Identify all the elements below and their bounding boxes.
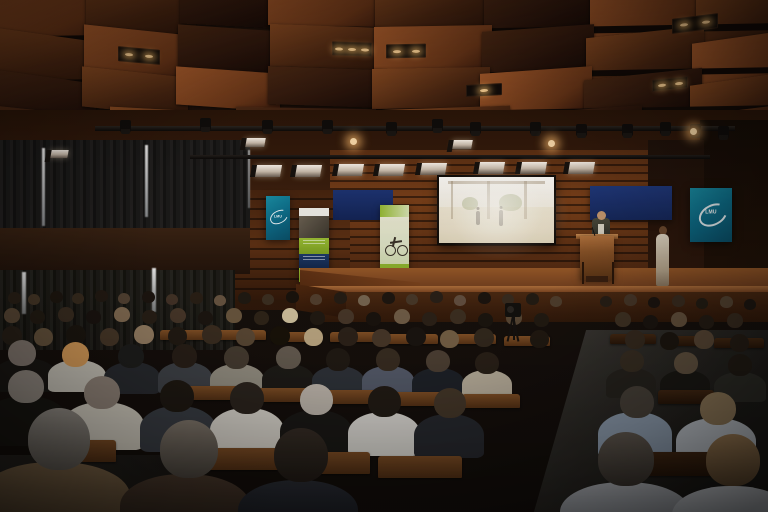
audience-head xyxy=(8,370,44,403)
audience-head xyxy=(30,310,45,324)
audience-head xyxy=(160,420,218,478)
audience-head xyxy=(720,296,733,308)
audience-head xyxy=(118,293,130,304)
recessed-ceiling-light xyxy=(466,83,502,97)
audience-head xyxy=(366,312,381,326)
lighting-truss-lower xyxy=(190,155,710,159)
audience-head xyxy=(478,313,493,327)
audience-head xyxy=(304,328,323,346)
audience-head xyxy=(202,325,222,344)
audience-head xyxy=(34,328,53,346)
standing-attendee-body xyxy=(656,234,669,286)
audience-head xyxy=(168,327,187,345)
audience-head xyxy=(600,296,612,307)
audience-head xyxy=(372,329,391,347)
audience-head xyxy=(238,292,251,304)
audience-head xyxy=(50,291,63,303)
audience-head xyxy=(454,295,466,306)
audience-head xyxy=(254,311,269,325)
teal-branded-banner-left: LMU xyxy=(266,196,290,240)
stage-spotlight xyxy=(660,122,671,135)
stage-spotlight xyxy=(622,124,633,137)
audience-head xyxy=(276,346,301,369)
audience-head xyxy=(118,344,144,368)
audience-head xyxy=(358,295,370,306)
audience-shoulders xyxy=(672,486,768,512)
audience-head xyxy=(426,350,450,372)
audience-head xyxy=(727,313,743,328)
audience-head xyxy=(172,344,197,368)
wooden-auditorium-seat xyxy=(462,394,520,408)
audience-head xyxy=(422,312,437,326)
audience-head xyxy=(394,309,410,324)
audience-head xyxy=(744,299,756,310)
audience-head xyxy=(28,408,90,470)
audience-head xyxy=(142,291,155,303)
audience-head xyxy=(114,307,130,322)
audience-head xyxy=(170,308,186,323)
recessed-ceiling-light xyxy=(386,44,426,59)
audience-head xyxy=(226,308,242,323)
spotlight-beam xyxy=(350,138,357,145)
acoustic-reflector-panel xyxy=(419,163,447,175)
speaker-podium xyxy=(580,236,614,280)
audience-head xyxy=(730,334,749,352)
audience-head xyxy=(338,327,358,346)
stage-spotlight xyxy=(322,120,333,133)
audience-shoulders xyxy=(238,480,358,512)
acoustic-reflector-panel xyxy=(519,162,547,174)
seated-audience xyxy=(0,282,768,512)
recessed-ceiling-light xyxy=(332,41,372,56)
bicycle-wheel xyxy=(397,245,408,256)
audience-head xyxy=(674,352,698,374)
lower-wall-band xyxy=(0,228,250,274)
audience-head xyxy=(198,311,213,325)
audience-head xyxy=(530,330,549,348)
audience-head xyxy=(434,388,466,418)
podium-leg xyxy=(582,262,584,284)
stage-spotlight xyxy=(576,124,587,137)
audience-head xyxy=(376,348,400,371)
audience-head xyxy=(696,298,708,309)
audience-head xyxy=(274,428,328,482)
audience-head xyxy=(282,308,298,323)
audience-head xyxy=(660,332,679,350)
audience-head xyxy=(270,326,290,345)
audience-head xyxy=(671,312,687,327)
audience-head xyxy=(450,309,466,324)
audience-head xyxy=(190,292,203,304)
audience-head xyxy=(406,327,426,346)
audience-head xyxy=(368,386,401,417)
blackout-curtain-upper xyxy=(0,140,250,232)
stage-spotlight xyxy=(718,126,729,139)
audience-head xyxy=(310,311,325,325)
audience-head xyxy=(4,308,20,323)
audience-head xyxy=(440,330,459,348)
presenter-head xyxy=(597,211,606,220)
stage-spotlight xyxy=(386,122,397,135)
audience-head xyxy=(478,292,491,304)
acoustic-reflector-panel xyxy=(254,165,282,177)
stage-spotlight xyxy=(262,120,273,133)
spotlight-beam xyxy=(548,140,555,147)
audience-head xyxy=(334,292,347,304)
audience-head xyxy=(230,382,264,414)
stage-spotlight xyxy=(470,122,481,135)
audience-head xyxy=(643,315,658,329)
audience-head xyxy=(224,346,249,369)
bicycle-wheel xyxy=(385,245,396,256)
audience-head xyxy=(620,386,654,418)
acoustic-reflector-panel xyxy=(377,164,405,176)
audience-head xyxy=(95,290,108,302)
acoustic-reflector-panel xyxy=(294,165,322,177)
audience-head xyxy=(300,384,333,415)
audience-head xyxy=(338,309,354,324)
audience-head xyxy=(84,376,120,409)
audience-head xyxy=(214,295,226,306)
audience-head xyxy=(286,291,299,303)
daylight-gap xyxy=(145,145,148,217)
stage-spotlight xyxy=(120,120,131,133)
audience-head xyxy=(474,328,494,347)
audience-head xyxy=(142,310,157,324)
audience-head xyxy=(262,294,274,305)
audience-head xyxy=(72,293,84,304)
wooden-auditorium-seat xyxy=(378,456,462,478)
acoustic-reflector-panel xyxy=(336,164,364,176)
audience-head xyxy=(326,348,350,371)
audience-head xyxy=(534,313,549,327)
acoustic-reflector-panel xyxy=(49,150,68,158)
audience-head xyxy=(728,354,752,376)
audience-head xyxy=(550,296,562,307)
audience-head xyxy=(8,292,21,304)
audience-head xyxy=(694,330,714,349)
audience-head xyxy=(62,342,89,367)
audience-head xyxy=(648,297,660,308)
audience-head xyxy=(28,294,40,305)
rollup-banner-bicycle xyxy=(380,205,409,273)
audience-head xyxy=(620,350,644,372)
audience-head xyxy=(8,340,36,366)
spotlight-beam xyxy=(690,128,697,135)
audience-head xyxy=(406,294,418,305)
audience-shoulders xyxy=(560,482,690,512)
audience-head xyxy=(160,380,194,412)
audience-head xyxy=(624,294,637,306)
audience-shoulders xyxy=(348,412,420,456)
audience-head xyxy=(134,325,154,344)
camera-lens xyxy=(507,306,514,313)
audience-head xyxy=(100,328,119,346)
acoustic-reflector-panel xyxy=(477,162,505,174)
tripod-leg xyxy=(513,316,515,340)
acoustic-reflector-panel xyxy=(451,140,473,149)
audience-head xyxy=(166,294,178,305)
audience-head xyxy=(310,294,322,305)
acoustic-reflector-panel xyxy=(244,138,266,147)
audience-head xyxy=(598,432,654,486)
audience-shoulders xyxy=(414,414,484,458)
audience-head xyxy=(86,310,101,324)
audience-head xyxy=(430,291,443,303)
stage-spotlight xyxy=(200,118,211,131)
audience-head xyxy=(672,295,685,307)
audience-head xyxy=(706,434,760,486)
podium-leg xyxy=(612,262,614,284)
banner-logo-text-left: LMU xyxy=(274,214,282,218)
teal-branded-banner-right: LMU xyxy=(690,188,732,242)
audience-head xyxy=(700,392,736,425)
audience-head xyxy=(382,292,395,304)
audience-head xyxy=(58,307,74,322)
banner-logo-text-right: LMU xyxy=(705,210,716,216)
lighting-truss-upper xyxy=(95,126,735,131)
audience-head xyxy=(699,315,714,329)
auditorium-photo: LMU LMU xyxy=(0,0,768,512)
audience-head xyxy=(625,330,645,349)
audience-head xyxy=(236,328,255,346)
audience-head xyxy=(475,352,499,374)
stage-spotlight xyxy=(530,122,541,135)
stage-spotlight xyxy=(432,119,443,132)
projection-screen xyxy=(437,175,556,245)
audience-head xyxy=(526,293,539,305)
acoustic-reflector-panel xyxy=(567,162,595,174)
audience-head xyxy=(615,312,631,327)
audience-shoulders xyxy=(120,474,250,512)
